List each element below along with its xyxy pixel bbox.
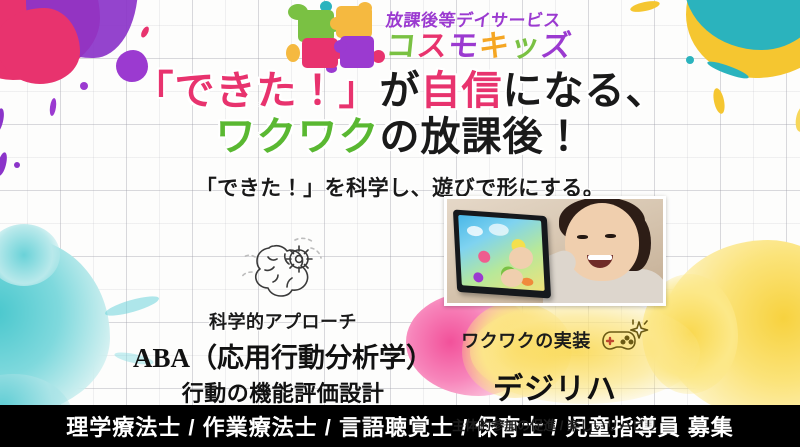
aba-card-kicker: 科学的アプローチ bbox=[118, 308, 448, 334]
feature-card-aba: 科学的アプローチ ABA（応用行動分析学） 行動の機能評価設計 行動の機能評価 … bbox=[118, 228, 448, 434]
logo-char-4: キ bbox=[477, 32, 511, 62]
logo-char-3: モ bbox=[446, 32, 480, 62]
poster-canvas: 放課後等デイサービス コスモキッズ 「できた！」が自信になる、 ワクワクの放課後… bbox=[0, 0, 800, 447]
digireha-card-note: 主体的参加の促進 / 楽しいリハビリ bbox=[430, 415, 680, 434]
headline-wakuwaku: ワクワク bbox=[216, 115, 380, 159]
digireha-card-kicker: ワクワクの実装 bbox=[461, 327, 591, 353]
headline-jishin: 自信 bbox=[421, 69, 503, 113]
headline-ga: が bbox=[380, 69, 421, 113]
puzzle-pieces-icon bbox=[296, 4, 380, 70]
page-subtitle: 「できた！」を科学し、遊びで形にする。 bbox=[0, 172, 800, 202]
brand-logo: 放課後等デイサービス コスモキッズ bbox=[296, 4, 572, 70]
feature-card-digireha: ワクワクの実装 デジリハ 主体的参加の促進 / 楽しいリハビリ bbox=[430, 196, 680, 434]
digireha-text-block: ワクワクの実装 デジリハ 主体的参加の促進 / 楽しいリハビリ bbox=[430, 316, 680, 434]
aba-card-title: ABA（応用行動分析学） bbox=[118, 336, 448, 375]
recruitment-bar: 理学療法士 / 作業療法士 / 言語聴覚士 / 保育士 / 児童指導員 募集 bbox=[0, 405, 800, 447]
logo-char-2: ス bbox=[415, 32, 449, 62]
logo-brand-name: コスモキッズ bbox=[384, 32, 573, 62]
aba-card-subtitle: 行動の機能評価設計 bbox=[118, 376, 448, 408]
digireha-card-title: デジリハ bbox=[430, 364, 680, 408]
logo-service-type: 放課後等デイサービス bbox=[385, 12, 573, 29]
headline-dekita: 「できた！」 bbox=[134, 69, 380, 113]
child-with-tablet-photo bbox=[444, 196, 666, 306]
headline-line-2: ワクワクの放課後！ bbox=[0, 116, 800, 158]
headline-line-1: 「できた！」が自信になる、 bbox=[0, 70, 800, 112]
brain-gear-icon bbox=[118, 228, 448, 308]
headline-hokago: の放課後！ bbox=[380, 115, 585, 159]
logo-char-6: ズ bbox=[539, 32, 573, 62]
headline-ninaru: になる、 bbox=[503, 69, 667, 113]
logo-char-1: コ bbox=[384, 32, 418, 62]
game-controller-sparkle-icon bbox=[597, 316, 649, 363]
logo-char-5: ッ bbox=[508, 32, 542, 62]
page-title: 「できた！」が自信になる、 ワクワクの放課後！ bbox=[0, 70, 800, 159]
